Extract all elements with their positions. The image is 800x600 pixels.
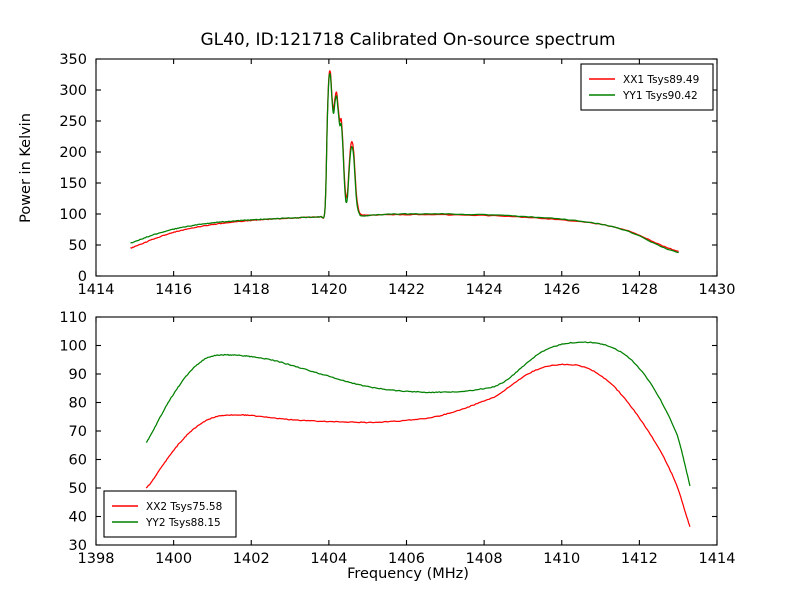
top-y-tick-label: 250 — [59, 114, 87, 130]
top-x-tick-label: 1416 — [155, 282, 192, 298]
plot-canvas: GL40, ID:121718 Calibrated On-source spe… — [0, 0, 800, 600]
bottom-legend-label-1: YY2 Tsys88.15 — [145, 517, 221, 529]
bottom-x-tick-label: 1412 — [621, 551, 658, 567]
bottom-legend-box — [104, 491, 236, 537]
top-x-tick-label: 1418 — [233, 282, 270, 298]
bottom-x-tick-label: 1400 — [155, 551, 192, 567]
top-panel-plot: 1414141614181420142214241426142814300501… — [59, 52, 735, 298]
bottom-y-tick-label: 60 — [69, 453, 87, 469]
bottom-y-tick-label: 90 — [69, 367, 87, 383]
top-legend: XX1 Tsys89.49YY1 Tsys90.42 — [581, 64, 713, 110]
top-x-tick-label: 1420 — [310, 282, 347, 298]
bottom-x-tick-label: 1414 — [699, 551, 736, 567]
bottom-x-tick-label: 1402 — [233, 551, 270, 567]
top-legend-box — [581, 64, 713, 110]
top-x-tick-label: 1424 — [466, 282, 503, 298]
top-x-tick-label: 1422 — [388, 282, 425, 298]
y-axis-label-top: Power in Kelvin — [18, 113, 34, 223]
bottom-y-tick-label: 110 — [59, 310, 87, 326]
top-x-tick-label: 1430 — [699, 282, 736, 298]
top-y-tick-label: 300 — [59, 83, 87, 99]
bottom-x-tick-label: 1408 — [466, 551, 503, 567]
x-axis-label-bottom: Frequency (MHz) — [347, 566, 469, 582]
bottom-y-tick-label: 40 — [69, 510, 87, 526]
bottom-y-tick-label: 80 — [69, 396, 87, 412]
top-legend-label-0: XX1 Tsys89.49 — [623, 74, 699, 86]
bottom-y-tick-label: 100 — [59, 339, 87, 355]
figure-canvas: GL40, ID:121718 Calibrated On-source spe… — [0, 0, 800, 600]
top-y-tick-label: 350 — [59, 52, 87, 68]
bottom-x-tick-label: 1406 — [388, 551, 425, 567]
top-y-tick-label: 150 — [59, 176, 87, 192]
top-y-tick-label: 0 — [78, 269, 87, 285]
bottom-x-tick-label: 1404 — [310, 551, 347, 567]
top-y-tick-label: 50 — [69, 238, 87, 254]
bottom-x-tick-label: 1410 — [543, 551, 580, 567]
bottom-legend-label-0: XX2 Tsys75.58 — [146, 501, 222, 513]
top-y-tick-label: 200 — [59, 145, 87, 161]
bottom-legend: XX2 Tsys75.58YY2 Tsys88.15 — [104, 491, 236, 537]
top-x-tick-label: 1428 — [621, 282, 658, 298]
bottom-panel-plot: 1398140014021404140614081410141214143040… — [59, 310, 735, 567]
bottom-y-tick-label: 50 — [69, 481, 87, 497]
page-title: GL40, ID:121718 Calibrated On-source spe… — [200, 30, 615, 50]
top-x-tick-label: 1426 — [543, 282, 580, 298]
bottom-y-tick-label: 30 — [69, 538, 87, 554]
top-y-tick-label: 100 — [59, 207, 87, 223]
bottom-y-tick-label: 70 — [69, 424, 87, 440]
top-legend-label-1: YY1 Tsys90.42 — [622, 90, 698, 102]
